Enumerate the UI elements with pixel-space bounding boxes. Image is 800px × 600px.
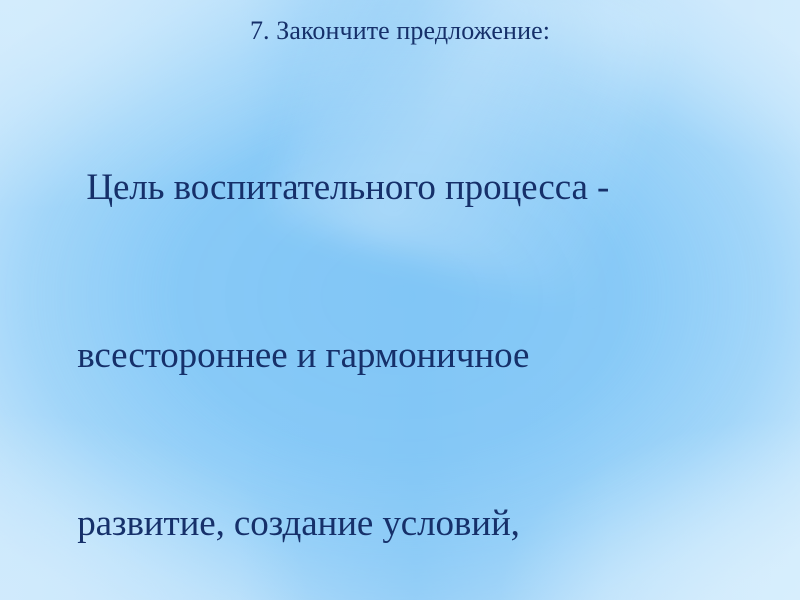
body-line: всестороннее и гармоничное [4,272,794,440]
body-line-text: всестороннее и гармоничное [77,335,529,376]
slide-body: Цель воспитательного процесса - всесторо… [4,104,794,600]
body-line: Цель воспитательного процесса - [4,104,794,272]
slide-title: 7. Закончите предложение: [0,14,800,48]
body-line-text: Цель воспитательного процесса - [77,167,609,208]
slide-content: 7. Закончите предложение: Цель воспитате… [0,0,800,600]
body-line: развитие, создание условий, [4,440,794,600]
slide-canvas: 7. Закончите предложение: Цель воспитате… [0,0,800,600]
body-line-text: развитие, создание условий, [77,503,520,544]
